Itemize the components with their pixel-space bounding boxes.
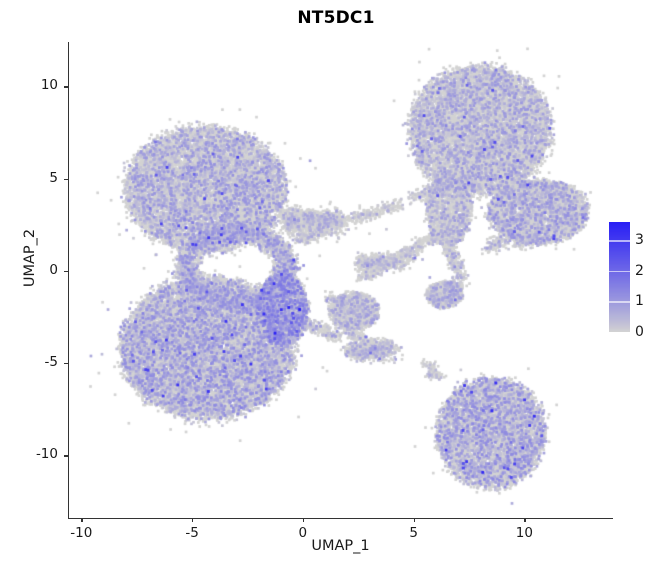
colorbar-gradient bbox=[609, 222, 630, 332]
colorbar-tick-label: 1 bbox=[635, 294, 644, 308]
page-title: NT5DC1 bbox=[0, 8, 672, 28]
color-legend: 3210 bbox=[609, 222, 669, 334]
y-tick-mark bbox=[64, 455, 68, 456]
scatter-plot-canvas bbox=[68, 42, 613, 518]
umap-feature-plot: NT5DC1 1050-5-10 -10-50510 UMAP_1 UMAP_2… bbox=[0, 0, 672, 576]
colorbar-tick-label: 3 bbox=[635, 233, 644, 247]
x-tick-mark bbox=[414, 518, 415, 522]
y-tick-label: -5 bbox=[0, 354, 58, 370]
y-axis-line bbox=[68, 42, 69, 519]
x-tick-mark bbox=[192, 518, 193, 522]
colorbar-tick-label: 2 bbox=[635, 264, 644, 278]
y-tick-mark bbox=[64, 179, 68, 180]
x-tick-mark bbox=[303, 518, 304, 522]
y-tick-label: -10 bbox=[0, 446, 58, 462]
colorbar-tick-mark bbox=[609, 240, 630, 242]
y-tick-mark bbox=[64, 363, 68, 364]
x-axis-label: UMAP_1 bbox=[68, 538, 613, 554]
x-tick-mark bbox=[81, 518, 82, 522]
colorbar-tick-mark bbox=[609, 332, 630, 334]
x-axis-line bbox=[68, 518, 613, 519]
colorbar-tick-mark bbox=[609, 271, 630, 273]
x-tick-mark bbox=[524, 518, 525, 522]
y-tick-label: 10 bbox=[0, 77, 58, 93]
y-tick-label: 5 bbox=[0, 170, 58, 186]
y-tick-mark bbox=[64, 86, 68, 87]
y-tick-mark bbox=[64, 271, 68, 272]
colorbar-tick-mark bbox=[609, 301, 630, 303]
colorbar-tick-label: 0 bbox=[635, 325, 644, 339]
plot-panel bbox=[68, 42, 613, 518]
y-axis-label: UMAP_2 bbox=[22, 198, 38, 318]
